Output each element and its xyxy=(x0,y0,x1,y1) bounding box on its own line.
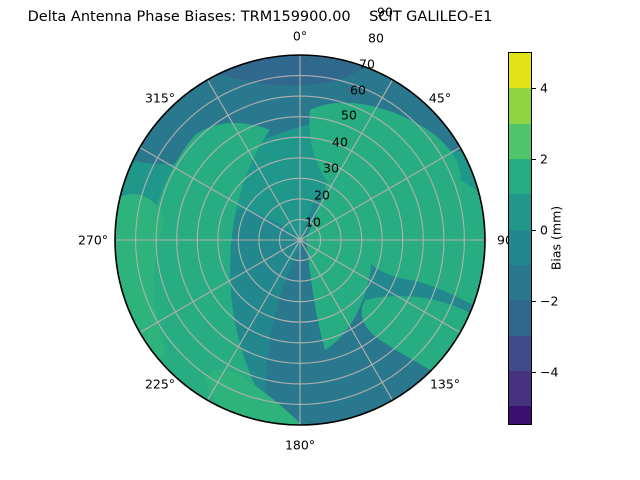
colorbar-axis-label: Bias (mm) xyxy=(549,206,564,270)
r-label-20: 20 xyxy=(314,188,330,203)
theta-label-315: 315° xyxy=(145,91,175,106)
colorbar-tick-neg4 xyxy=(532,372,536,373)
r-label-10: 10 xyxy=(305,215,321,230)
polar-plot-axes: 0° 45° 90 135° 180° 225° 270° 315° 10 20… xyxy=(110,50,490,430)
colorbar-ticklabel-2: 2 xyxy=(540,151,548,166)
colorbar-band-6 xyxy=(509,265,531,300)
colorbar-tick-neg2 xyxy=(532,301,536,302)
colorbar-band-9 xyxy=(509,371,531,406)
colorbar-band-4 xyxy=(509,194,531,229)
theta-label-135: 135° xyxy=(430,377,460,392)
colorbar-ticklabel-0: 0 xyxy=(540,222,548,237)
colorbar-ticklabel-neg4: −4 xyxy=(540,364,558,379)
colorbar-band-2 xyxy=(509,124,531,159)
colorbar-band-10 xyxy=(509,406,531,424)
colorbar: 4 2 0 −2 −4 xyxy=(508,52,532,425)
colorbar-band-7 xyxy=(509,300,531,335)
r-label-40: 40 xyxy=(332,135,348,150)
colorbar-band-3 xyxy=(509,159,531,194)
theta-label-225: 225° xyxy=(145,377,175,392)
colorbar-ticklabel-4: 4 xyxy=(540,80,548,95)
colorbar-gradient xyxy=(508,52,532,425)
colorbar-band-8 xyxy=(509,336,531,371)
colorbar-tick-0 xyxy=(532,230,536,231)
colorbar-band-5 xyxy=(509,230,531,265)
theta-label-180: 180° xyxy=(285,438,315,453)
theta-label-0: 0° xyxy=(293,29,307,44)
r-label-60: 60 xyxy=(350,83,366,98)
r-label-30: 30 xyxy=(323,161,339,176)
r-label-50: 50 xyxy=(341,108,357,123)
figure-canvas: Delta Antenna Phase Biases: TRM159900.00… xyxy=(0,0,640,480)
colorbar-band-0 xyxy=(509,53,531,88)
theta-label-45: 45° xyxy=(429,91,451,106)
theta-label-270: 270° xyxy=(78,233,108,248)
r-label-70: 70 xyxy=(359,57,375,72)
colorbar-tick-4 xyxy=(532,88,536,89)
colorbar-tick-2 xyxy=(532,159,536,160)
r-label-90: 90 xyxy=(377,5,393,20)
colorbar-band-1 xyxy=(509,88,531,123)
page-title: Delta Antenna Phase Biases: TRM159900.00… xyxy=(0,8,520,26)
colorbar-ticklabel-neg2: −2 xyxy=(540,293,558,308)
r-label-80: 80 xyxy=(368,31,384,46)
polar-contour-svg xyxy=(110,50,490,430)
